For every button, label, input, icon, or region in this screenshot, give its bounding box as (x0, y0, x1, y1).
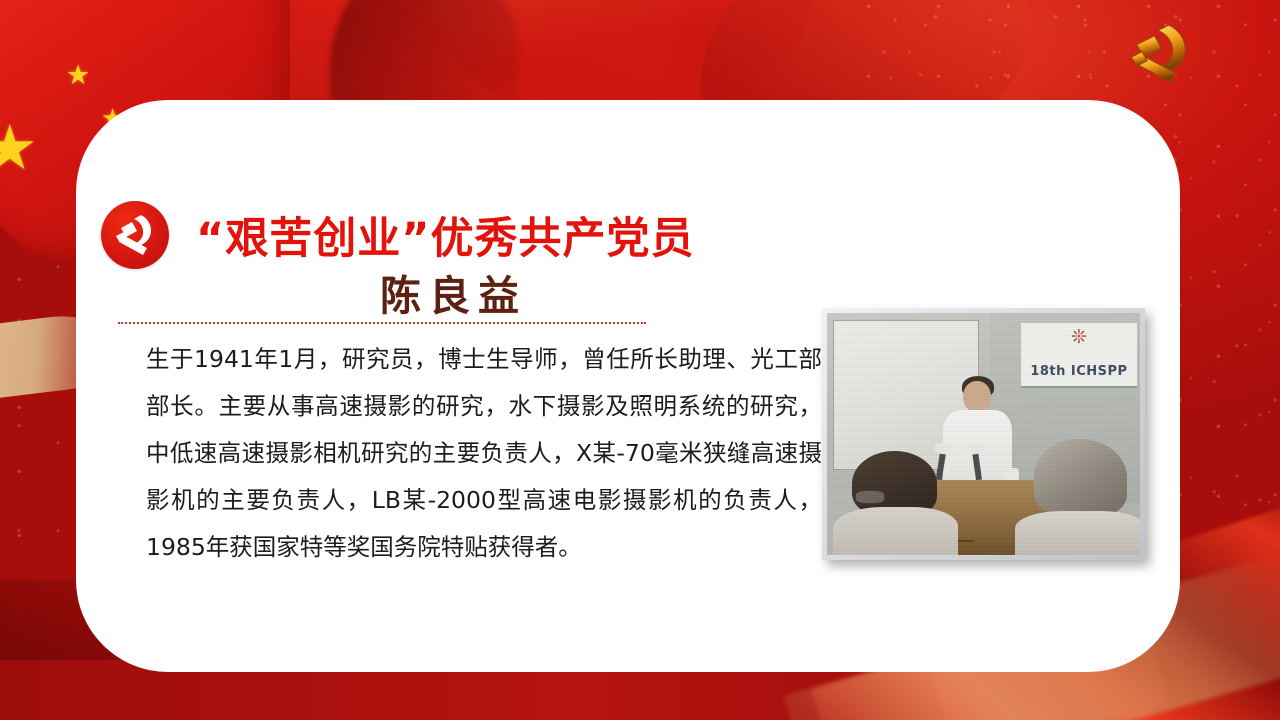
title-divider (118, 322, 646, 324)
plum-blossom-emblem-icon: ❊ (1071, 328, 1087, 347)
flag-star-large: ★ (0, 118, 38, 180)
photo-speaker-head (963, 381, 991, 412)
photo-banner-text: 18th ICHSPP (1021, 364, 1137, 379)
page-title: “艰苦创业”优秀共产党员 (196, 204, 695, 266)
conference-photo: ❊ 18th ICHSPP (827, 313, 1140, 555)
slide-root: ★ ★ ★ ★ ★ (0, 0, 1280, 720)
photo-audience-left-glasses (855, 490, 885, 504)
person-name: 陈良益 (380, 262, 527, 322)
photo-conference-banner: ❊ 18th ICHSPP (1021, 323, 1137, 388)
photo-audience-left-body (833, 507, 958, 555)
photo-audience-right-head (1034, 439, 1128, 516)
photo-audience-right-body (1015, 511, 1140, 555)
conference-photo-frame: ❊ 18th ICHSPP (822, 308, 1145, 560)
biography-paragraph: 生于1941年1月，研究员，博士生导师，曾任所长助理、光工部部长。主要从事高速摄… (146, 336, 822, 571)
party-emblem-badge-icon (101, 201, 169, 269)
flag-star-1: ★ (66, 62, 90, 89)
party-emblem-gold-icon (1112, 18, 1204, 98)
